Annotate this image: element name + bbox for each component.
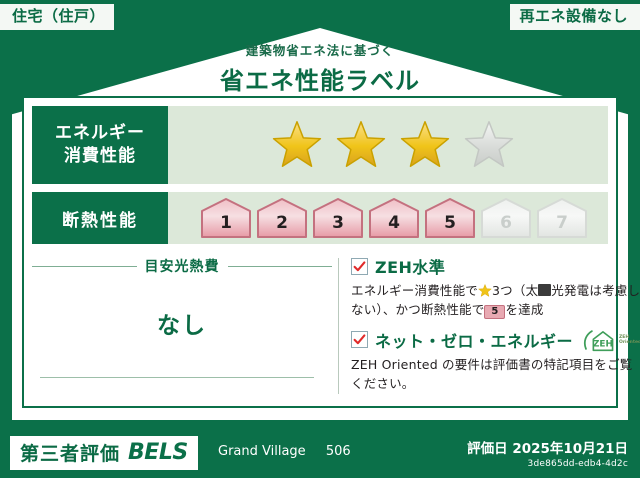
insulation-level-inactive: 7 [535, 197, 589, 239]
bels-logo-text: BELS [128, 440, 188, 465]
energy-tag-line2: 消費性能 [64, 145, 136, 168]
bels-certification-badge: 第三者評価 BELS [10, 436, 198, 470]
claims-section: ZEH水準 エネルギー消費性能で3つ（太光発電は考慮しない）、かつ断熱性能で5を… [351, 252, 640, 400]
lower-columns: 目安光熱費 なし ZEH水準 エネルギー消費性 [32, 252, 608, 400]
insulation-level-number: 7 [556, 213, 568, 239]
utility-cost-section: 目安光熱費 なし [32, 252, 332, 400]
third-party-eval-text: 第三者評価 [20, 439, 120, 466]
performance-panel: エネルギー 消費性能 断熱性能 1234567 目安光熱費 なし [22, 96, 618, 408]
obscured-character-highlight [538, 284, 551, 296]
badge-building-type: 住宅（住戸） [0, 4, 114, 30]
project-info: Grand Village 506 [218, 444, 351, 459]
claim-zeh-standard-head: ZEH水準 [351, 254, 640, 278]
insulation-level-number: 3 [332, 213, 344, 239]
insulation-level-active: 1 [199, 197, 253, 239]
zeh-logo-subtext: ZEHOriented [619, 335, 640, 345]
footer: 第三者評価 BELS Grand Village 506 評価日 2025年10… [0, 428, 640, 478]
star-icon-filled [335, 120, 387, 170]
claim-net-zero-head: ネット・ゼロ・エネルギー ZEH ZEHOriented [351, 328, 640, 352]
claim-zeh-body-end: を達成 [505, 302, 543, 317]
energy-star-rating [168, 120, 608, 170]
energy-tag-line1: エネルギー [55, 122, 145, 145]
energy-performance-row: エネルギー 消費性能 [32, 106, 608, 184]
claim-zeh-body-pre: エネルギー消費性能で [351, 283, 478, 298]
claim-zeh-body-mid: 3つ（太 [492, 283, 538, 298]
star-icon-empty [463, 120, 515, 170]
star-icon-filled [271, 120, 323, 170]
claim-zeh-standard-title: ZEH水準 [375, 254, 445, 278]
insulation-level-scale: 1234567 [168, 197, 608, 239]
evaluation-info: 評価日 2025年10月21日 3de865dd-edb4-4d2c [467, 437, 628, 469]
energy-performance-label-tag: エネルギー 消費性能 [32, 106, 168, 184]
insulation-level-number: 1 [220, 213, 232, 239]
energy-performance-label: 住宅（住戸） 再エネ設備なし 建築物省エネ法に基づく 省エネ性能ラベル エネルギ… [0, 0, 640, 478]
insulation-level-number: 5 [444, 213, 456, 239]
badge-renewable-equipment: 再エネ設備なし [510, 4, 640, 30]
insulation-level-active: 2 [255, 197, 309, 239]
insulation-performance-row: 断熱性能 1234567 [32, 192, 608, 244]
claim-net-zero-energy: ネット・ゼロ・エネルギー ZEH ZEHOriented [351, 328, 640, 394]
utility-cost-title-text: 目安光熱費 [145, 256, 220, 276]
insulation-level-number: 4 [388, 213, 400, 239]
checkmark-icon [351, 258, 368, 275]
utility-cost-value: なし [157, 306, 207, 340]
project-name: Grand Village [218, 444, 306, 459]
project-number: 506 [326, 444, 351, 459]
insulation-level-number: 6 [500, 213, 512, 239]
claim-zeh-standard-body: エネルギー消費性能で3つ（太光発電は考慮しない）、かつ断熱性能で5を達成 [351, 281, 640, 320]
evaluation-uid: 3de865dd-edb4-4d2c [467, 459, 628, 469]
claim-zeh-standard: ZEH水準 エネルギー消費性能で3つ（太光発電は考慮しない）、かつ断熱性能で5を… [351, 254, 640, 320]
claim-net-zero-title: ネット・ゼロ・エネルギー [375, 328, 573, 352]
rule-left [32, 266, 137, 267]
star-icon-filled [399, 120, 451, 170]
zeh-house-logo-icon: ZEH ZEHOriented [583, 328, 640, 352]
insulation-level-inactive: 6 [479, 197, 533, 239]
insulation-level-active: 4 [367, 197, 421, 239]
utility-cost-title: 目安光熱費 [32, 256, 332, 276]
insulation-level-active: 3 [311, 197, 365, 239]
checkmark-icon [351, 331, 368, 348]
evaluation-date: 評価日 2025年10月21日 [467, 437, 628, 457]
utility-cost-underline [40, 377, 314, 378]
svg-text:ZEH: ZEH [593, 339, 613, 349]
star-icon-inline [478, 283, 492, 296]
insulation-level-number: 2 [276, 213, 288, 239]
claim-net-zero-body: ZEH Oriented の要件は評価書の特記項目をご覧ください。 [351, 355, 640, 394]
insulation-badge-inline: 5 [484, 305, 505, 319]
column-divider [338, 258, 339, 394]
insulation-level-active: 5 [423, 197, 477, 239]
rule-right [228, 266, 333, 267]
insulation-label-tag: 断熱性能 [32, 192, 168, 244]
